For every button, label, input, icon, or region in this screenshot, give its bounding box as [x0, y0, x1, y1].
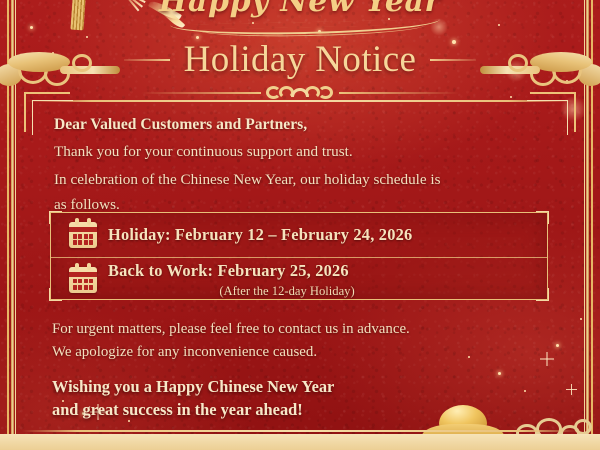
title-dash-left	[124, 59, 170, 61]
calendar-icon	[69, 222, 97, 248]
schedule-row-holiday: Holiday: February 12 – February 24, 2026	[51, 213, 547, 257]
divider-line-right	[339, 92, 459, 94]
wish-line: Wishing you a Happy Chinese New Year and…	[52, 376, 560, 421]
schedule-panel: Holiday: February 12 – February 24, 2026…	[50, 212, 548, 300]
header-rule	[26, 100, 574, 102]
happy-new-year-script: Happy New Year	[0, 0, 600, 19]
page-title-row: Holiday Notice	[0, 38, 600, 81]
schedule-row-return: Back to Work: February 25, 2026 (After t…	[51, 257, 547, 301]
intro-line: In celebration of the Chinese New Year, …	[54, 168, 560, 217]
holiday-dates-label: Holiday: February 12 – February 24, 2026	[108, 225, 412, 245]
comet-streak-icon	[148, 0, 182, 23]
bokeh-dot	[430, 18, 448, 36]
swoosh-underline	[170, 19, 440, 37]
salutation-line: Dear Valued Customers and Partners,	[54, 112, 560, 137]
bottom-rule	[22, 430, 578, 432]
return-date-label: Back to Work: February 25, 2026	[108, 261, 349, 281]
urgent-line: For urgent matters, please feel free to …	[52, 318, 560, 341]
title-dash-right	[430, 59, 476, 61]
swoosh-underline-2	[196, 25, 426, 39]
divider-line-left	[141, 92, 261, 94]
closing-block: For urgent matters, please feel free to …	[52, 318, 560, 421]
tassel-icon	[70, 0, 86, 30]
divider-ornament	[264, 85, 336, 100]
apology-line: We apologize for any inconvenience cause…	[52, 341, 560, 364]
sparkle-star-icon	[566, 384, 577, 395]
return-date-note: (After the 12-day Holiday)	[51, 284, 523, 299]
scrollwork-divider-icon	[0, 85, 600, 100]
thanks-line: Thank you for your continuous support an…	[54, 140, 560, 165]
page-title: Holiday Notice	[184, 38, 417, 81]
comet-streak-icon	[163, 9, 186, 30]
notice-body: Dear Valued Customers and Partners, Than…	[54, 112, 560, 217]
bottom-band	[0, 434, 600, 450]
holiday-notice-poster: Happy New Year Holiday Notice	[0, 0, 600, 450]
